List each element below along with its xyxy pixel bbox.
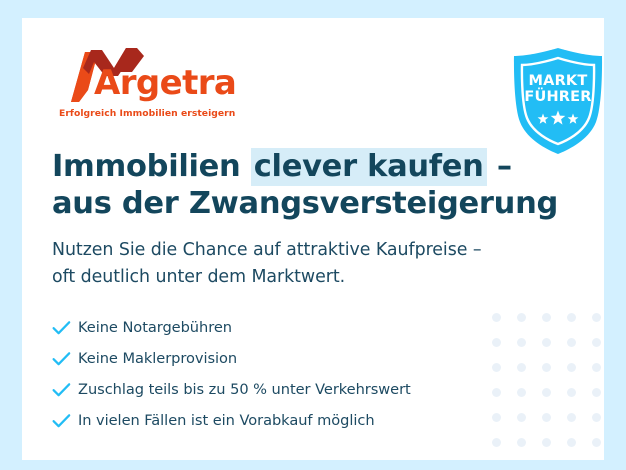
market-leader-badge: MARKT FÜHRER [506,46,604,156]
dot [559,305,584,330]
dot [534,380,559,405]
dot [534,355,559,380]
dot [534,405,559,430]
headline-text-before: Immobilien [52,149,251,184]
argetra-logo[interactable]: Argetra Erfolgreich Immobilien ersteiger… [58,46,238,132]
list-item-label: Keine Maklerprovision [78,350,237,367]
content-card: Argetra Erfolgreich Immobilien ersteiger… [22,18,604,460]
headline-line-1: Immobilien clever kaufen – [52,148,572,185]
list-item: Keine Notargebühren [52,312,522,343]
dot [584,305,604,330]
dot [534,330,559,355]
promo-banner: Argetra Erfolgreich Immobilien ersteiger… [0,0,626,470]
dot [584,355,604,380]
list-item-label: Keine Notargebühren [78,319,232,336]
check-icon [52,413,78,429]
dot [534,305,559,330]
dot [584,380,604,405]
headline-text-after: – [487,149,512,184]
list-item-label: Zuschlag teils bis zu 50 % unter Verkehr… [78,381,411,398]
dot [584,405,604,430]
dot [534,430,559,455]
list-item: Keine Maklerprovision [52,343,522,374]
page-title: Immobilien clever kaufen – aus der Zwang… [52,148,572,222]
dot [559,380,584,405]
dot [559,405,584,430]
logo-tagline: Erfolgreich Immobilien ersteigern [59,108,235,119]
dot [584,330,604,355]
dot [584,430,604,455]
dot [559,430,584,455]
logo-wordmark: Argetra [94,66,236,100]
list-item-label: In vielen Fällen ist ein Vorabkauf mögli… [78,412,375,429]
dot [559,355,584,380]
benefits-list: Keine NotargebührenKeine Maklerprovision… [52,312,522,436]
subtitle-line-2: oft deutlich unter dem Marktwert. [52,264,572,291]
headline-highlight: clever kaufen [251,148,487,186]
headline-line-2: aus der Zwangsversteigerung [52,185,572,222]
dot [559,330,584,355]
check-icon [52,320,78,336]
check-icon [52,382,78,398]
list-item: Zuschlag teils bis zu 50 % unter Verkehr… [52,374,522,405]
subtitle-line-1: Nutzen Sie die Chance auf attraktive Kau… [52,237,572,264]
shield-icon [506,46,604,156]
subtitle: Nutzen Sie die Chance auf attraktive Kau… [52,237,572,290]
check-icon [52,351,78,367]
list-item: In vielen Fällen ist ein Vorabkauf mögli… [52,405,522,436]
